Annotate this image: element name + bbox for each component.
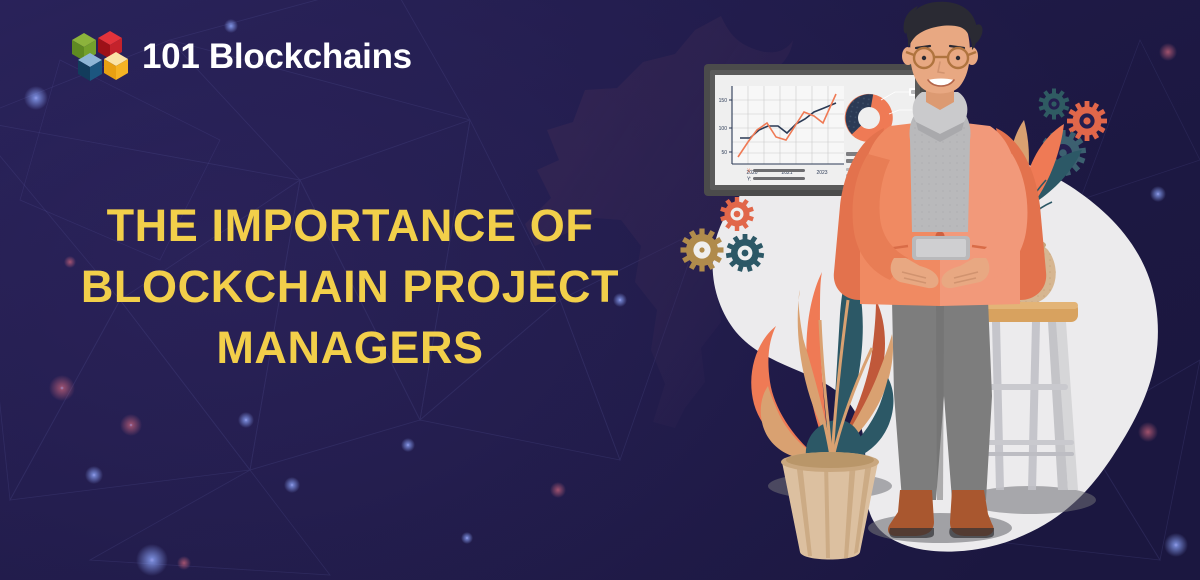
headline-line-2: BLOCKCHAIN PROJECT bbox=[40, 257, 660, 318]
gear-teal-right bbox=[1039, 89, 1070, 120]
svg-text:2023: 2023 bbox=[816, 170, 827, 176]
plant-pot bbox=[781, 452, 879, 560]
person-trousers bbox=[892, 300, 992, 500]
illustration-svg: 150 100 50 2020 2021 2023 bbox=[640, 0, 1200, 580]
legend-label-y: Y: bbox=[747, 177, 751, 183]
svg-text:100: 100 bbox=[719, 126, 728, 132]
four-cubes-logo-icon bbox=[68, 26, 130, 86]
hero-illustration: 150 100 50 2020 2021 2023 bbox=[640, 0, 1200, 580]
brand-name: 101 Blockchains bbox=[142, 39, 412, 74]
person-turtleneck bbox=[910, 92, 971, 232]
brand-logo[interactable]: 101 Blockchains bbox=[68, 26, 412, 86]
legend-label-x: X: bbox=[747, 169, 752, 175]
growth-line-chart: 150 100 50 2020 2021 2023 bbox=[719, 86, 844, 176]
svg-text:50: 50 bbox=[721, 150, 727, 156]
headline-line-1: THE IMPORTANCE OF bbox=[40, 196, 660, 257]
promo-banner: 101 Blockchains THE IMPORTANCE OF BLOCKC… bbox=[0, 0, 1200, 580]
page-title: THE IMPORTANCE OF BLOCKCHAIN PROJECT MAN… bbox=[40, 196, 660, 378]
headline-line-3: MANAGERS bbox=[40, 318, 660, 379]
svg-text:150: 150 bbox=[719, 98, 728, 104]
